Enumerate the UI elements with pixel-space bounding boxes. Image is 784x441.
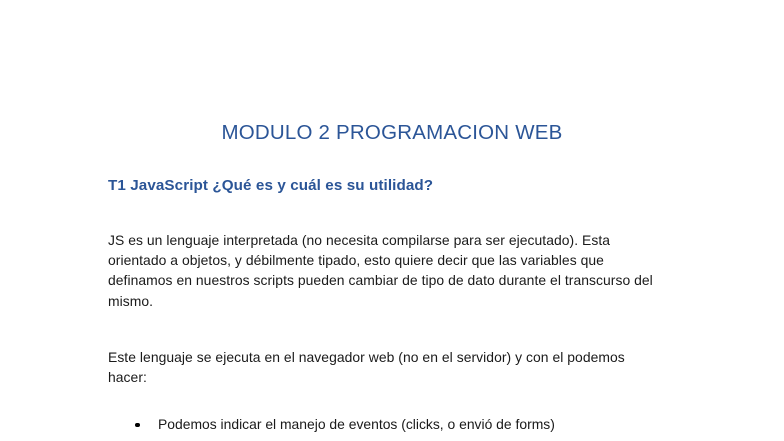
bullet-point-icon bbox=[135, 423, 140, 428]
body-paragraph-1: JS es un lenguaje interpretada (no neces… bbox=[108, 230, 664, 311]
bullet-list: Podemos indicar el manejo de eventos (cl… bbox=[108, 414, 668, 434]
body-paragraph-2: Este lenguaje se ejecuta en el navegador… bbox=[108, 347, 664, 387]
document-page: MODULO 2 PROGRAMACION WEB T1 JavaScript … bbox=[0, 0, 784, 441]
list-item-label: Podemos indicar el manejo de eventos (cl… bbox=[158, 416, 555, 432]
list-item: Podemos indicar el manejo de eventos (cl… bbox=[108, 414, 668, 434]
page-title: MODULO 2 PROGRAMACION WEB bbox=[0, 120, 784, 146]
section-heading: T1 JavaScript ¿Qué es y cuál es su utili… bbox=[108, 175, 433, 197]
